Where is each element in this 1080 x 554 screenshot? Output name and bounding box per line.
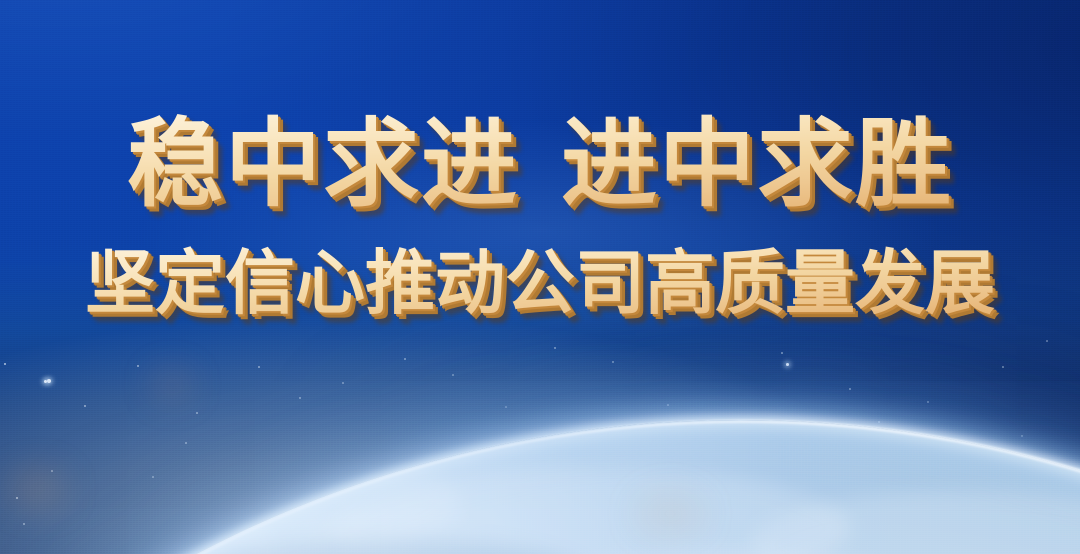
page-title: 稳中求进进中求胜 — [0, 112, 1080, 216]
headline-part-1: 稳中求进 — [127, 108, 519, 220]
headline-block: 稳中求进进中求胜 坚定信心推动公司高质量发展 — [0, 112, 1080, 322]
page-subtitle: 坚定信心推动公司高质量发展 — [0, 244, 1080, 322]
promotional-banner: 稳中求进进中求胜 坚定信心推动公司高质量发展 — [0, 0, 1080, 554]
headline-part-2: 进中求胜 — [561, 108, 953, 220]
